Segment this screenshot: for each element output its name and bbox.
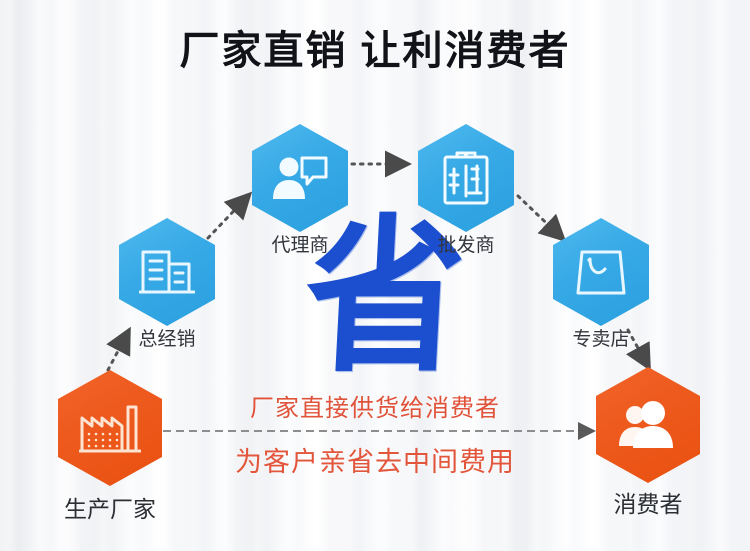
page-title: 厂家直销 让利消费者: [0, 18, 750, 76]
node-label-wholesaler: 批发商: [376, 230, 556, 257]
infographic-canvas: 厂家直销 让利消费者 省 厂家直接供货给消费者 为客户亲省去中间费用: [0, 0, 750, 551]
node-label-manufacturer: 生产厂家: [20, 490, 200, 524]
node-label-distributor: 总经销: [77, 324, 257, 351]
shopping-bag-icon: [574, 247, 628, 297]
node-label-agent: 代理商: [210, 230, 390, 257]
building-icon: [139, 246, 195, 298]
people-icon: [617, 400, 679, 450]
hexagon-store: [553, 218, 649, 326]
clipboard-pi-icon: [441, 149, 491, 207]
node-label-consumer: 消费者: [558, 485, 738, 519]
person-chat-icon: [271, 154, 329, 202]
factory-icon: [79, 402, 141, 454]
node-label-store: 专卖店: [511, 324, 691, 351]
hexagon-distributor: [119, 218, 215, 326]
